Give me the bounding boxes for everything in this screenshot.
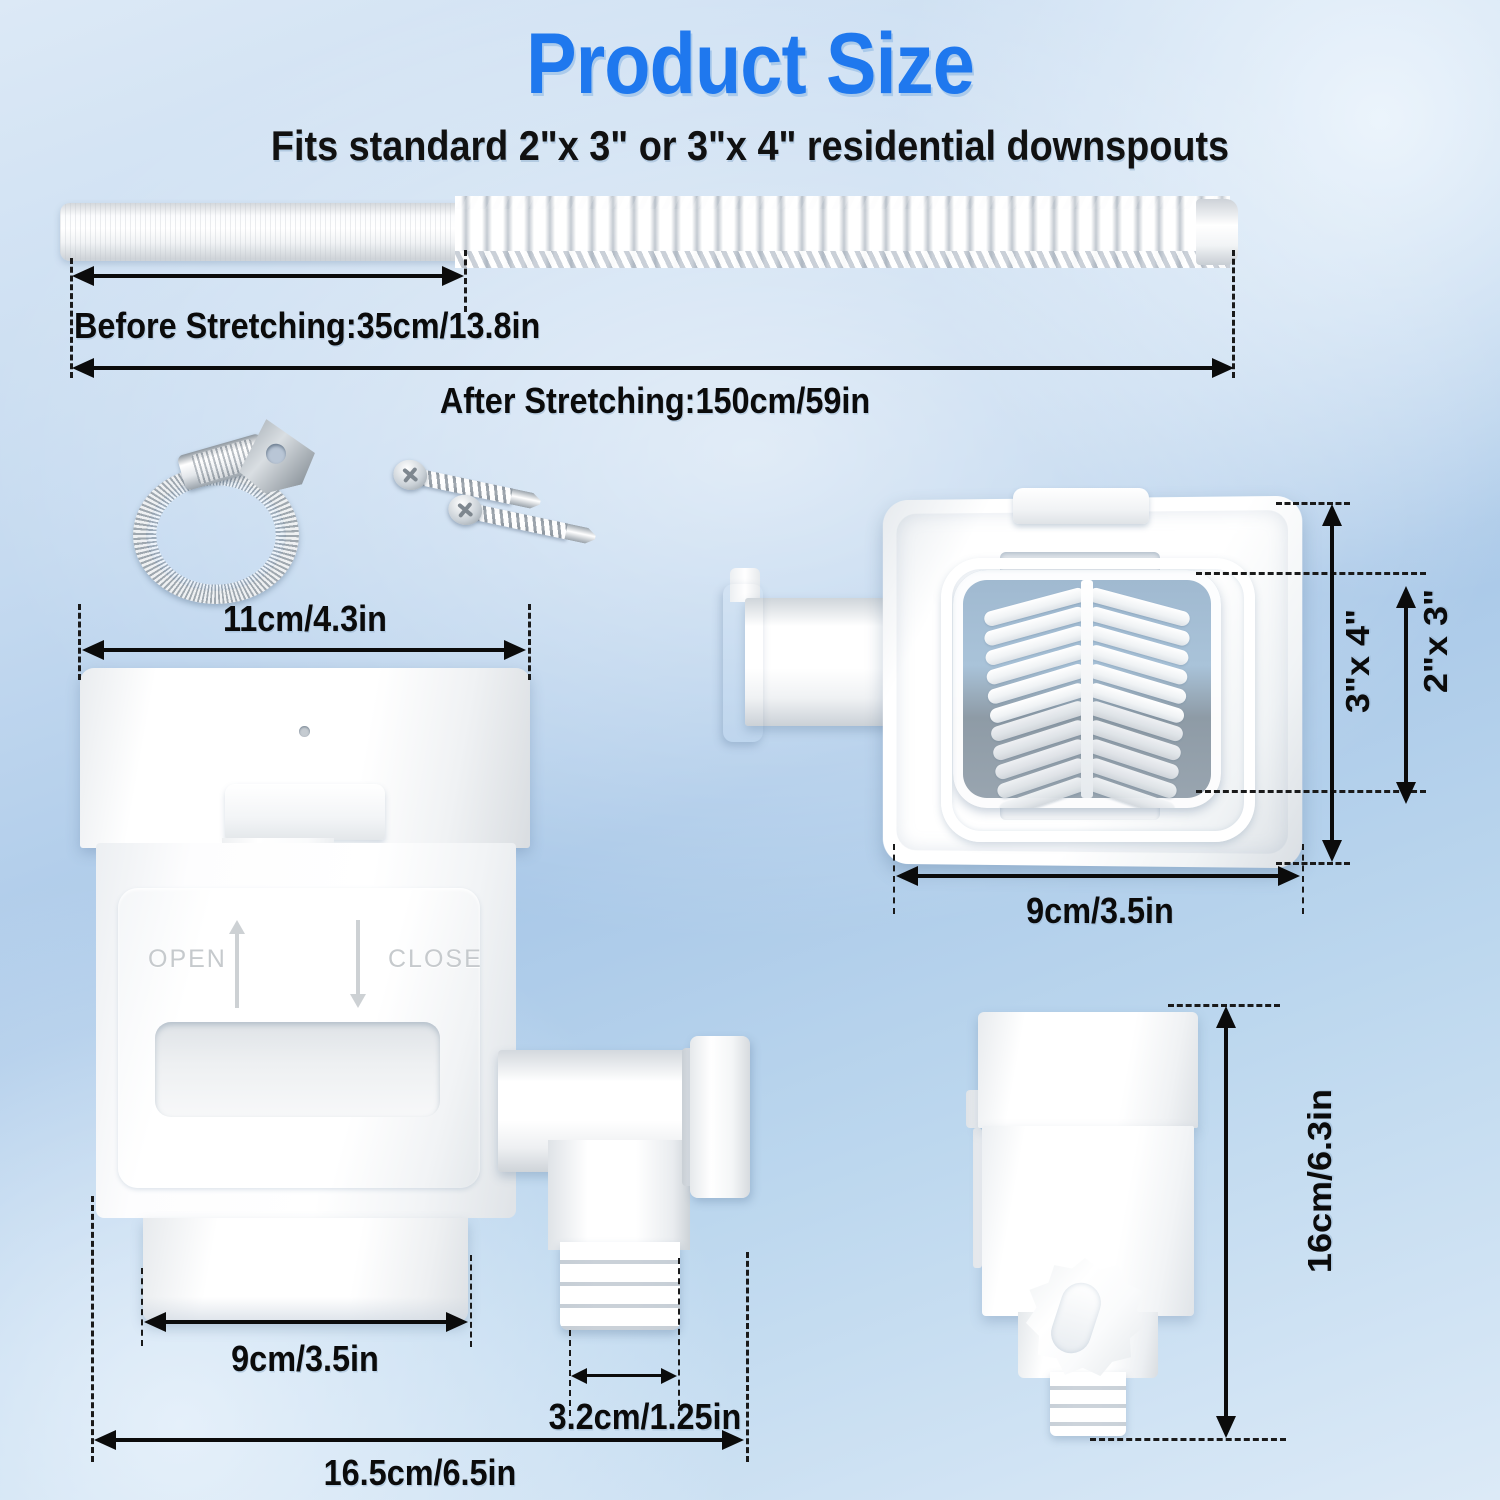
diverter-front-tab	[225, 784, 385, 840]
dim-guide-total-left	[91, 1196, 94, 1462]
tee-end-cap	[690, 1036, 750, 1198]
dim-label-total-width: 16.5cm/6.5in	[272, 1452, 569, 1494]
dim-label-after-stretching: After Stretching:150cm/59in	[426, 380, 885, 422]
close-label: CLOSE	[388, 945, 483, 974]
dim-arrow-body-width	[82, 640, 526, 660]
dim-guide-bottom-inner-right	[470, 1255, 472, 1347]
infographic-canvas: Product Size Fits standard 2"x 3" or 3"x…	[0, 0, 1500, 1500]
dim-guide-basket-width-left	[893, 844, 895, 914]
dim-arrow-outlet-width	[571, 1368, 677, 1388]
page-title: Product Size	[90, 16, 1410, 112]
dim-guide-hose-mid	[464, 250, 467, 312]
dim-arrow-basket-inner	[1396, 586, 1416, 804]
dim-label-basket-outer: 3"x 4"	[1339, 581, 1378, 741]
basket-inlet-flange	[723, 584, 763, 742]
dim-guide-basket-inner-bottom	[1196, 790, 1426, 793]
screw-hole-icon	[299, 726, 310, 737]
dim-label-basket-width: 9cm/3.5in	[956, 890, 1244, 932]
dim-guide-basket-inner-top	[1196, 572, 1426, 575]
tee-vertical-pipe	[548, 1140, 690, 1250]
dim-guide-outlet-right	[678, 1258, 680, 1416]
arrow-up-icon	[229, 920, 245, 1008]
dim-arrow-basket-width	[896, 866, 1300, 886]
sideview-top-cap	[978, 1012, 1198, 1128]
dim-arrow-before-stretching	[72, 266, 464, 286]
dim-guide-basket-width-right	[1302, 844, 1304, 914]
dim-arrow-total-width	[94, 1430, 744, 1450]
dim-label-sideview-height: 16cm/6.3in	[1301, 1031, 1340, 1331]
dim-guide-body-topright	[528, 604, 531, 680]
dim-arrow-after-stretching	[72, 358, 1234, 378]
dim-guide-bottom-inner-left	[141, 1268, 143, 1346]
dim-guide-total-right	[746, 1252, 749, 1462]
diverter-bottom-outlet	[143, 1218, 468, 1323]
dim-guide-body-topleft	[78, 604, 81, 680]
basket-top-tab	[1013, 488, 1149, 524]
hose-clamp-icon	[128, 420, 298, 580]
hose-corrugated-shadow	[455, 251, 1230, 268]
dim-label-basket-inner: 2"x 3"	[1417, 561, 1456, 721]
tee-barbed-outlet	[560, 1242, 680, 1330]
open-label: OPEN	[148, 945, 227, 974]
dim-guide-sideview-bottom	[1090, 1438, 1286, 1441]
sideview-mount-rail	[973, 1128, 982, 1268]
hose-smooth-section	[60, 203, 460, 261]
dim-arrow-bottom-width	[144, 1312, 468, 1332]
basket-grid-spine	[1081, 580, 1093, 798]
dim-label-body-width: 11cm/4.3in	[157, 598, 454, 640]
diverter-slider-slot[interactable]	[155, 1022, 440, 1117]
sideview-barbed-outlet	[1050, 1372, 1126, 1436]
page-subtitle: Fits standard 2"x 3" or 3"x 4" residenti…	[75, 120, 1425, 172]
dim-arrow-sideview-height	[1216, 1006, 1236, 1438]
dim-label-before-stretching: Before Stretching:35cm/13.8in	[74, 305, 540, 347]
dim-guide-basket-outer-bottom	[1276, 862, 1350, 865]
basket-filter-grid	[953, 570, 1221, 808]
arrow-down-icon	[350, 920, 366, 1008]
dim-label-bottom-width: 9cm/3.5in	[166, 1338, 445, 1380]
